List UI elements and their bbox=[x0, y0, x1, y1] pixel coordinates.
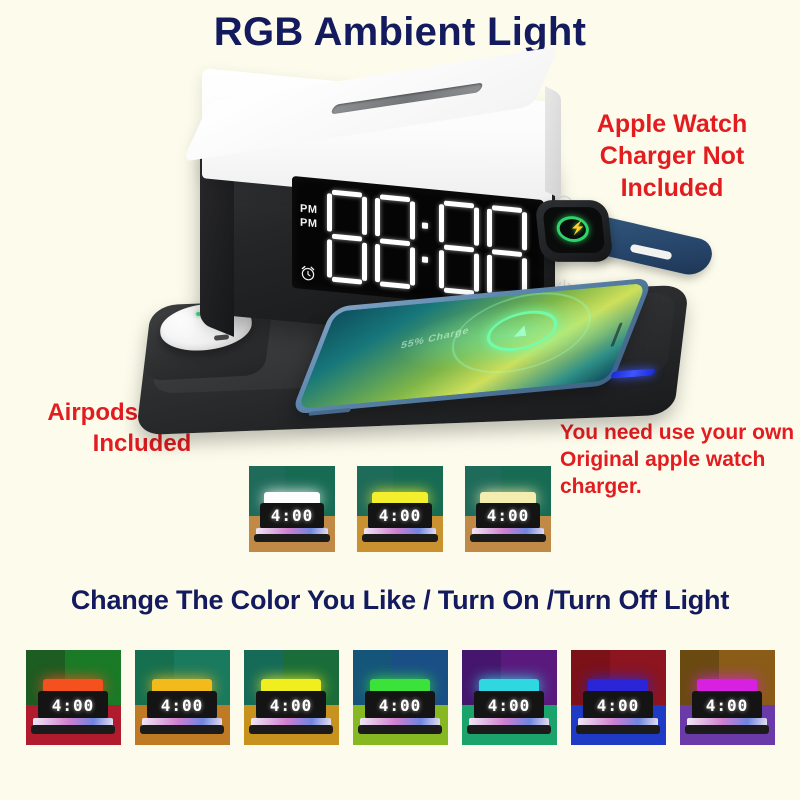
watch-face: ⚡ bbox=[542, 207, 605, 253]
thumb-clock-time: 4:00 bbox=[692, 691, 762, 720]
thumbnail-color-1[interactable]: 4:00 bbox=[26, 650, 121, 745]
thumb-clock-time: 4:00 bbox=[476, 503, 540, 529]
thumb-clock-time: 4:00 bbox=[38, 691, 108, 720]
thumb-clock-time: 4:00 bbox=[583, 691, 653, 720]
thumbnail-color-6[interactable]: 4:00 bbox=[571, 650, 666, 745]
clock-digit-3 bbox=[438, 200, 480, 296]
lightning-bolt-icon: ⚡ bbox=[569, 221, 587, 234]
thumbnail-color-5[interactable]: 4:00 bbox=[462, 650, 557, 745]
thumb-base bbox=[685, 725, 769, 734]
thumb-base bbox=[140, 725, 224, 734]
clock-digit-2 bbox=[374, 194, 416, 290]
thumb-clock-display: 4:00 bbox=[260, 503, 324, 529]
thumb-clock-time: 4:00 bbox=[260, 503, 324, 529]
thumb-clock-display: 4:00 bbox=[38, 691, 108, 720]
thumb-clock-display: 4:00 bbox=[147, 691, 217, 720]
thumb-clock-display: 4:00 bbox=[474, 691, 544, 720]
thumb-clock-display: 4:00 bbox=[365, 691, 435, 720]
thumbnail-color-7[interactable]: 4:00 bbox=[680, 650, 775, 745]
thumb-base bbox=[358, 725, 442, 734]
thumb-base bbox=[362, 534, 438, 542]
iphone-notch bbox=[610, 323, 622, 347]
clock-colon-bottom bbox=[422, 256, 428, 263]
clock-digit-1 bbox=[326, 189, 368, 285]
thumb-base bbox=[31, 725, 115, 734]
thumb-clock-time: 4:00 bbox=[256, 691, 326, 720]
clock-digit-4 bbox=[486, 205, 528, 301]
thumbnail-warm-1[interactable]: 4:00 bbox=[249, 466, 335, 552]
pm-indicator-bottom: PM bbox=[300, 216, 318, 231]
thumb-base bbox=[576, 725, 660, 734]
clock-colon-top bbox=[422, 222, 428, 229]
subheadline: Change The Color You Like / Turn On /Tur… bbox=[0, 585, 800, 616]
thumbnail-color-2[interactable]: 4:00 bbox=[135, 650, 230, 745]
thumb-base bbox=[249, 725, 333, 734]
alarm-clock-icon bbox=[299, 264, 317, 284]
thumbnail-warm-2[interactable]: 4:00 bbox=[357, 466, 443, 552]
product-marketing-image: RGB Ambient Light Apple Watch Charger No… bbox=[0, 0, 800, 800]
thumb-clock-time: 4:00 bbox=[365, 691, 435, 720]
thumb-base bbox=[254, 534, 330, 542]
thumb-clock-display: 4:00 bbox=[368, 503, 432, 529]
thumb-clock-time: 4:00 bbox=[474, 691, 544, 720]
thumbnail-warm-3[interactable]: 4:00 bbox=[465, 466, 551, 552]
thumbnail-color-3[interactable]: 4:00 bbox=[244, 650, 339, 745]
thumbnail-row-warm: 4:004:004:00 bbox=[0, 466, 800, 552]
hero-product-image: PM PM bbox=[140, 80, 685, 440]
thumb-clock-display: 4:00 bbox=[476, 503, 540, 529]
thumb-base bbox=[467, 725, 551, 734]
thumbnail-row-colors: 4:004:004:004:004:004:004:00 bbox=[0, 650, 800, 745]
thumbnail-color-4[interactable]: 4:00 bbox=[353, 650, 448, 745]
clock-digits bbox=[326, 185, 538, 305]
thumb-clock-display: 4:00 bbox=[256, 691, 326, 720]
thumb-clock-display: 4:00 bbox=[692, 691, 762, 720]
thumb-clock-display: 4:00 bbox=[583, 691, 653, 720]
apple-watch: ⚡ bbox=[535, 200, 614, 262]
thumb-clock-time: 4:00 bbox=[147, 691, 217, 720]
thumb-base bbox=[470, 534, 546, 542]
thumb-clock-time: 4:00 bbox=[368, 503, 432, 529]
page-title: RGB Ambient Light bbox=[0, 10, 800, 55]
pm-indicator-top: PM bbox=[300, 203, 318, 218]
pm-indicators: PM PM bbox=[300, 203, 318, 232]
